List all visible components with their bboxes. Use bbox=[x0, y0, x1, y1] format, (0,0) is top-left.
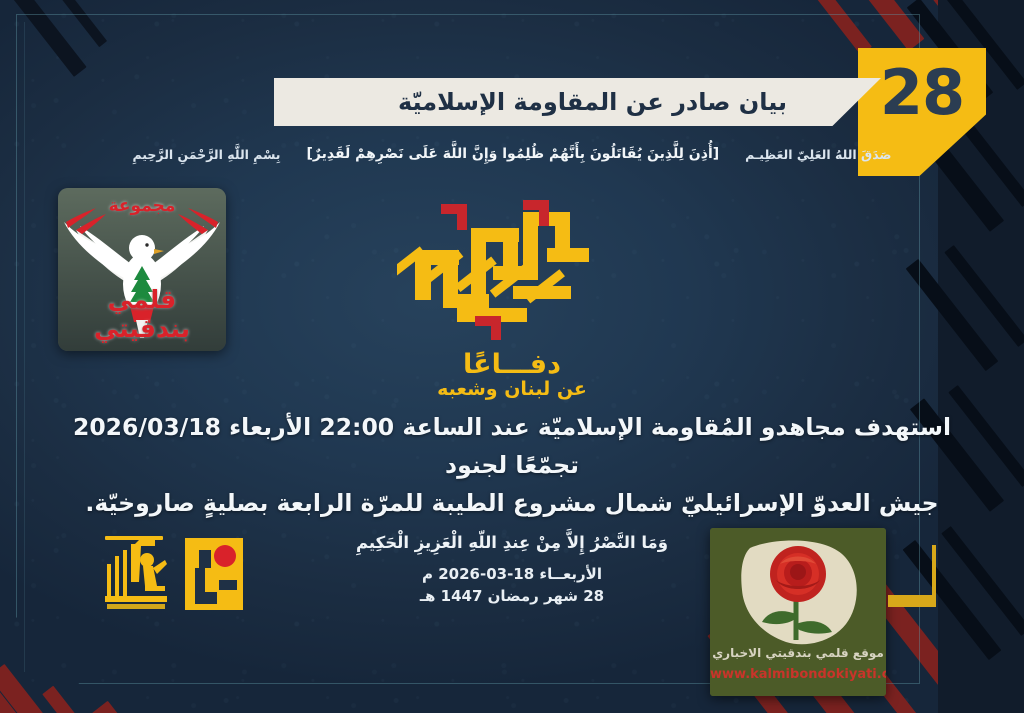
statement-line-2: جيش العدوّ الإسرائيليّ شمال مشروع الطيبة… bbox=[62, 484, 962, 522]
dove-logo-top-label: مجموعة bbox=[58, 196, 226, 216]
page-title: بيان صادر عن المقاومة الإسلاميّة bbox=[368, 88, 787, 116]
calligraphy-subtitle-defense: دفـــاعًا bbox=[0, 349, 1024, 380]
bracket-vertical bbox=[932, 545, 936, 601]
basmala-text: بِسْمِ اللَّهِ الرَّحْمَنِ الرَّحِيمِ bbox=[133, 147, 281, 162]
statement-body: استهدف مجاهدو المُقاومة الإسلاميّة عند ا… bbox=[62, 408, 962, 522]
header-banner: بيان صادر عن المقاومة الإسلاميّة bbox=[274, 78, 881, 126]
calligraphy-subtitle-lebanon: عن لبنان وشعبه bbox=[0, 378, 1024, 400]
sadaq-allah-text: صَدَقَ اللهُ العَلِيّ العَظِيـم bbox=[745, 147, 891, 162]
dove-logo-bottom-label: قلمي بندقيتي bbox=[58, 285, 226, 343]
quran-verse-line: صَدَقَ اللهُ العَلِيّ العَظِيـم [أُذِنَ … bbox=[0, 146, 1024, 162]
issue-number: 28 bbox=[880, 62, 964, 124]
site-url-label[interactable]: www.kalmibondokiyati.com bbox=[710, 667, 886, 682]
organization-emblems bbox=[100, 528, 245, 614]
site-name-label: موقع قلمي بندقيتي الاخباري bbox=[710, 646, 886, 660]
statement-line-1: استهدف مجاهدو المُقاومة الإسلاميّة عند ا… bbox=[62, 408, 962, 484]
corner-bracket-accent bbox=[888, 545, 936, 607]
dove-group-logo: مجموعة قلمي بندقيتي bbox=[58, 188, 226, 351]
kufic-logo-icon bbox=[397, 188, 627, 343]
resistance-square-emblem-icon bbox=[183, 534, 245, 614]
hezbollah-emblem-icon bbox=[101, 530, 173, 614]
bracket-horizontal bbox=[888, 595, 936, 607]
ayah-text: [أُذِنَ لِلَّذِينَ يُقَاتَلُونَ بِأَنَّه… bbox=[307, 146, 720, 162]
statement-poster: 28 بيان صادر عن المقاومة الإسلاميّة صَدَ… bbox=[0, 0, 1024, 713]
kufic-logo bbox=[397, 188, 627, 343]
news-site-logo: موقع قلمي بندقيتي الاخباري www.kalmibond… bbox=[710, 528, 886, 696]
